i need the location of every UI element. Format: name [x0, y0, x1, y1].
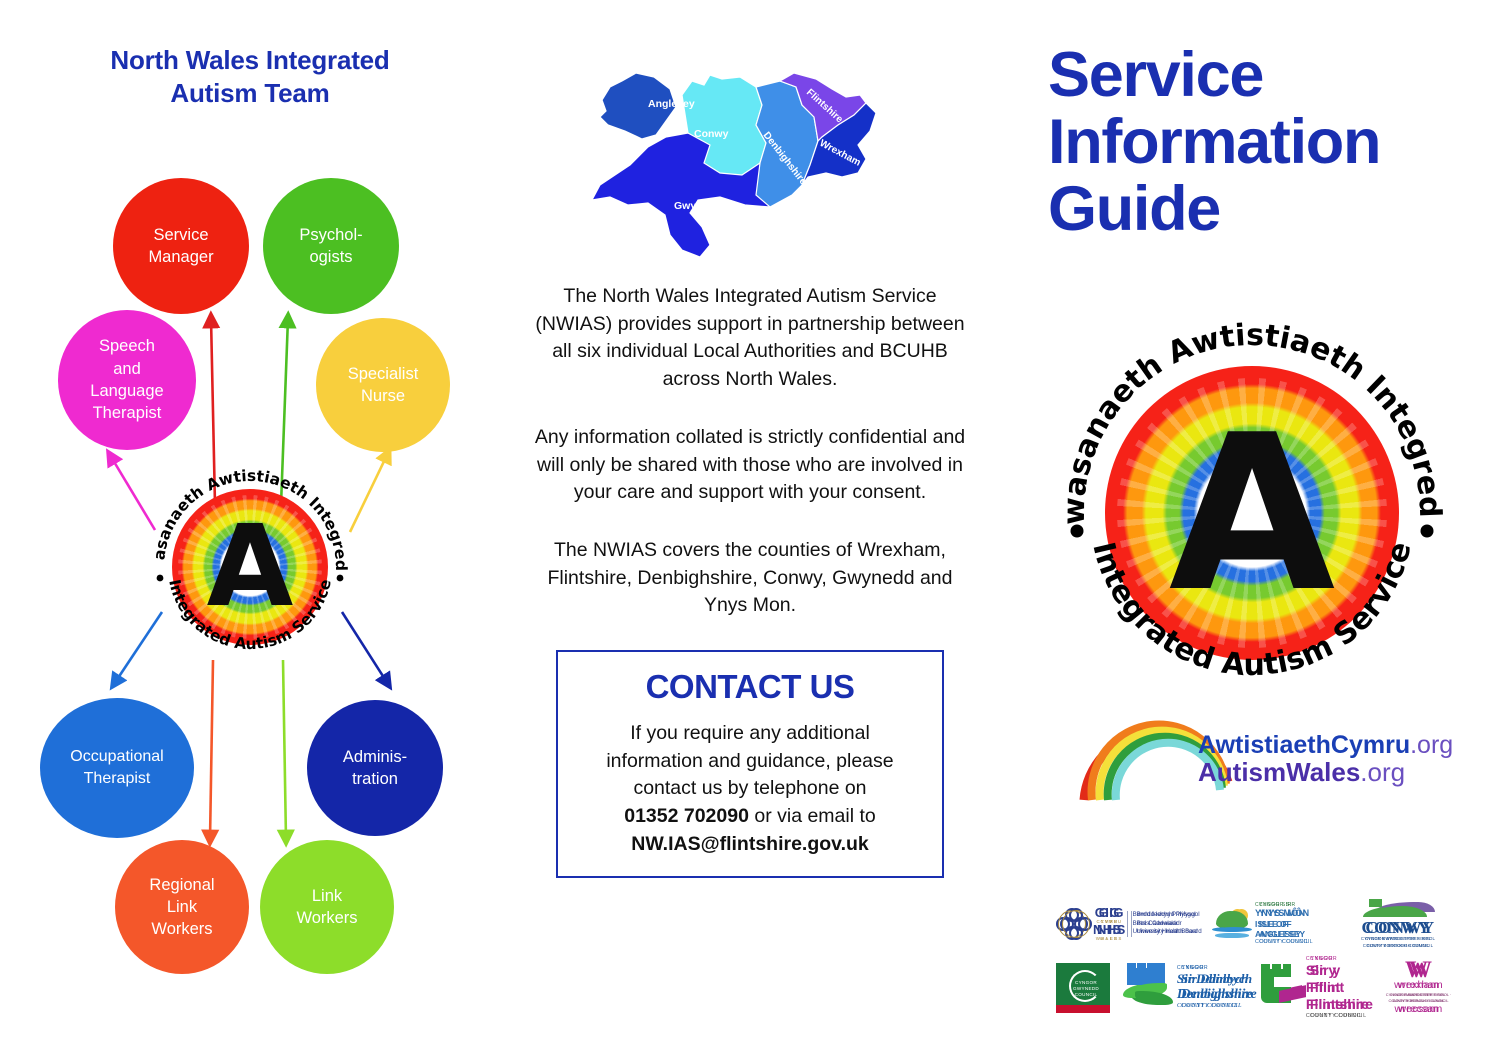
- cover-title-line3: Guide: [1048, 176, 1488, 243]
- bubble-label-line1: Speech: [90, 335, 163, 357]
- wrexham-w-icon: W: [1381, 960, 1460, 981]
- nhs-health-board-text: Bwrdd Iechyd Prifysgol Betsi Cadwaladr U…: [1131, 911, 1202, 938]
- bubble-label-line2: ogists: [299, 246, 362, 268]
- bubble-label-line2: Therapist: [70, 768, 163, 790]
- logo-denbighshire: CYNGOR Sir Ddinbych Denbighshire COUNTY …: [1125, 965, 1253, 1010]
- autism-wales-wordmark: AwtistiaethCymru.org AutismWales.org: [1198, 733, 1453, 785]
- anglesey-wordmark: CYNGOR SIR YNYS MÔN ISLE OF ANGLESEY COU…: [1259, 902, 1339, 946]
- denbighshire-line-3: COUNTY COUNCIL: [1181, 1002, 1257, 1010]
- bubble-administration[interactable]: Adminis- tration: [307, 700, 443, 836]
- bubble-label-line4: Therapist: [90, 402, 163, 424]
- middle-panel: Anglesey Conwy Gwynedd Denbighshire Flin…: [500, 0, 1000, 1058]
- nhs-gig: GIG: [1097, 907, 1126, 920]
- flintshire-mark-icon: [1263, 967, 1307, 1009]
- svg-text:Gwasanaeth Awtistiaeth Integre: Gwasanaeth Awtistiaeth Integredig: [1057, 318, 1447, 525]
- logo-nhs-bcuhb: GIG CYMRU NHS WALES Bwrdd Iechyd Prifysg…: [1060, 907, 1208, 941]
- logo-ring-text: Gwasanaeth Awtistiaeth Integredig Integr…: [148, 465, 352, 669]
- cover-logo-english-text: Integrated Autism Service: [1085, 538, 1418, 683]
- bubble-link-workers[interactable]: Link Workers: [260, 840, 394, 974]
- bubble-label-line1: Specialist: [348, 363, 419, 385]
- nhs-wordmark: GIG CYMRU NHS WALES: [1097, 907, 1126, 941]
- confidentiality-paragraph: Any information collated is strictly con…: [530, 424, 970, 507]
- contact-line-2: information and guidance, please: [606, 748, 893, 776]
- autismwales-name: AutismWales: [1198, 757, 1360, 787]
- flintshire-line-1: Sir y Fflint: [1310, 962, 1373, 996]
- denbighshire-wordmark: CYNGOR Sir Ddinbych Denbighshire COUNTY …: [1181, 965, 1257, 1010]
- north-wales-map: Anglesey Conwy Gwynedd Denbighshire Flin…: [570, 45, 940, 280]
- logo-welsh-text: Gwasanaeth Awtistiaeth Integredig: [148, 465, 350, 571]
- bubble-label-line2: tration: [343, 768, 407, 790]
- bubble-speech-and-language-therapist[interactable]: Speech and Language Therapist: [58, 310, 196, 450]
- logo-flintshire: CYNGOR Sir y Fflint Flintshire COUNTY CO…: [1263, 956, 1373, 1019]
- contact-line-1: If you require any additional: [606, 720, 893, 748]
- bubble-label-line2: and: [90, 358, 163, 380]
- autismwales-line: AutismWales.org: [1198, 759, 1453, 785]
- nhs-nhs: NHS: [1097, 924, 1126, 937]
- anglesey-line-2: YNYS MÔN: [1259, 908, 1339, 919]
- partner-logo-row-1: GIG CYMRU NHS WALES Bwrdd Iechyd Prifysg…: [1060, 898, 1460, 950]
- awtistiaethcymru-line: AwtistiaethCymru.org: [1198, 733, 1453, 758]
- center-autism-logo: A Gwasanaeth Awtistiaeth Integredig Inte…: [148, 465, 352, 669]
- cover-logo-ring-text: Gwasanaeth Awtistiaeth Integredig Integr…: [1057, 318, 1447, 708]
- contact-line-3: contact us by telephone on: [606, 775, 893, 803]
- bubble-label-line1: Psychol-: [299, 224, 362, 246]
- nhs-knot-icon: [1060, 908, 1092, 940]
- svg-text:Integrated Autism Service: Integrated Autism Service: [1085, 538, 1418, 683]
- flintshire-line-2: Flintshire: [1310, 996, 1373, 1013]
- awtistiaethcymru-name: AwtistiaethCymru: [1198, 731, 1410, 759]
- svg-text:Gwasanaeth Awtistiaeth Integre: Gwasanaeth Awtistiaeth Integredig: [148, 465, 350, 571]
- hb-line-3: University Health Board: [1137, 928, 1202, 937]
- logo-english-text: Integrated Autism Service: [165, 578, 335, 654]
- bubble-label-line1: Occupational: [70, 746, 163, 768]
- denbighshire-line-2: Denbighshire: [1181, 986, 1257, 1002]
- team-diagram: Service Manager Psychol- ogists Speech a…: [0, 160, 500, 1000]
- anglesey-mark-icon: [1214, 907, 1254, 941]
- bubble-label-line1: Service: [148, 224, 213, 246]
- contact-us-heading: CONTACT US: [646, 668, 855, 706]
- contact-line-4-suffix: or via email to: [749, 805, 876, 827]
- map-label-conwy: Conwy: [694, 128, 729, 140]
- map-label-anglesey: Anglesey: [648, 98, 695, 110]
- cover-title: Service Information Guide: [1048, 42, 1488, 242]
- contact-phone[interactable]: 01352 702090: [624, 805, 749, 827]
- panel-title-line1: North Wales Integrated: [0, 44, 500, 77]
- cover-logo-bullet-left: [1071, 525, 1084, 538]
- svg-text:Integrated Autism Service: Integrated Autism Service: [165, 578, 335, 654]
- map-label-gwynedd: Gwynedd: [674, 200, 721, 212]
- arrow-regional-link-workers: [210, 660, 213, 840]
- bubble-psychologists[interactable]: Psychol- ogists: [263, 178, 399, 314]
- arrow-link-workers: [283, 660, 286, 840]
- cover-title-line2: Information: [1048, 109, 1488, 176]
- bubble-label-line1: Adminis-: [343, 746, 407, 768]
- bubble-label-line3: Language: [90, 380, 163, 402]
- panel-title: North Wales Integrated Autism Team: [0, 44, 500, 111]
- logo-bullet-left: [157, 575, 164, 582]
- bubble-service-manager[interactable]: Service Manager: [113, 178, 249, 314]
- gwynedd-name: CYNGOR GWYNEDD COUNCIL: [1072, 980, 1100, 999]
- contact-us-body: If you require any additional informatio…: [606, 720, 893, 858]
- cover-autism-logo: A Gwasanaeth Awtistiaeth Integredig Inte…: [1057, 318, 1447, 708]
- cover-logo-bullet-right: [1421, 525, 1434, 538]
- wrexham-name-en: wrexham: [1381, 980, 1460, 992]
- bubble-label-line2: Link: [149, 896, 214, 918]
- wrexham-name-cy: wrecsam: [1381, 1004, 1460, 1016]
- conwy-name: CONWY: [1345, 919, 1455, 936]
- flintshire-line-3: COUNTY COUNCIL: [1310, 1013, 1373, 1019]
- hb-line-1: Bwrdd Iechyd Prifysgol: [1137, 911, 1202, 920]
- bubble-occupational-therapist[interactable]: Occupational Therapist: [40, 698, 194, 838]
- bubble-label-line2: Manager: [148, 246, 213, 268]
- conwy-sub-2: COUNTY BOROUGH COUNCIL: [1345, 943, 1455, 949]
- bubble-label-line2: Workers: [296, 907, 357, 929]
- contact-us-box: CONTACT US If you require any additional…: [556, 650, 944, 878]
- bubble-regional-link-workers[interactable]: Regional Link Workers: [115, 840, 249, 974]
- arrow-specialist-nurse: [350, 453, 388, 532]
- cover-logo-welsh-text: Gwasanaeth Awtistiaeth Integredig: [1057, 318, 1447, 525]
- denbighshire-line-1: Sir Ddinbych: [1181, 971, 1257, 986]
- intro-paragraph: The North Wales Integrated Autism Servic…: [530, 283, 970, 394]
- bubble-label-line2: Nurse: [348, 385, 419, 407]
- bubble-specialist-nurse[interactable]: Specialist Nurse: [316, 318, 450, 452]
- logo-bullet-right: [337, 575, 344, 582]
- conwy-mark-icon: [1363, 899, 1437, 919]
- autism-wales-rainbow-logo[interactable]: AwtistiaethCymru.org AutismWales.org: [1070, 700, 1430, 810]
- bubble-label-line3: Workers: [149, 918, 214, 940]
- bubble-label-line1: Link: [296, 885, 357, 907]
- contact-email[interactable]: NW.IAS@flintshire.gov.uk: [606, 831, 893, 859]
- partner-logos-right: GIG CYMRU NHS WALES Bwrdd Iechyd Prifysg…: [1060, 898, 1460, 1013]
- logo-wrexham: W wrexham CYNGOR BWRDEISTREF SIROL · COU…: [1381, 960, 1460, 1016]
- hb-line-2: Betsi Cadwaladr: [1137, 920, 1202, 929]
- left-panel: North Wales Integrated Autism Team: [0, 0, 500, 1058]
- nhs-wales: WALES: [1097, 937, 1126, 941]
- denbighshire-mark-icon: [1125, 965, 1177, 1009]
- contact-email-text: NW.IAS@flintshire.gov.uk: [631, 833, 869, 855]
- flintshire-wordmark: CYNGOR Sir y Fflint Flintshire COUNTY CO…: [1310, 956, 1373, 1019]
- awtistiaethcymru-domain: .org: [1410, 731, 1453, 759]
- gwynedd-mark-icon: CYNGOR GWYNEDD COUNCIL: [1060, 963, 1110, 1013]
- partner-logo-row-2: CYNGOR GWYNEDD COUNCIL CYNGOR Sir Ddinby…: [1060, 960, 1460, 1015]
- anglesey-line-4: COUNTY COUNCIL: [1259, 939, 1339, 946]
- anglesey-line-3: ISLE OF ANGLESEY: [1259, 919, 1339, 940]
- cover-title-line1: Service: [1048, 42, 1488, 109]
- wrexham-sub: CYNGOR BWRDEISTREF SIROL · COUNTY BOROUG…: [1381, 992, 1460, 1004]
- contact-line-4: 01352 702090 or via email to: [606, 803, 893, 831]
- autismwales-domain: .org: [1360, 757, 1405, 787]
- logo-isle-of-anglesey: CYNGOR SIR YNYS MÔN ISLE OF ANGLESEY COU…: [1214, 902, 1339, 946]
- bubble-label-line1: Regional: [149, 874, 214, 896]
- logo-conwy: CONWY CYNGOR BWRDEISTREF SIROL COUNTY BO…: [1345, 899, 1455, 948]
- logo-gwynedd: CYNGOR GWYNEDD COUNCIL: [1060, 963, 1117, 1013]
- panel-title-line2: Autism Team: [0, 77, 500, 110]
- coverage-paragraph: The NWIAS covers the counties of Wrexham…: [530, 537, 970, 620]
